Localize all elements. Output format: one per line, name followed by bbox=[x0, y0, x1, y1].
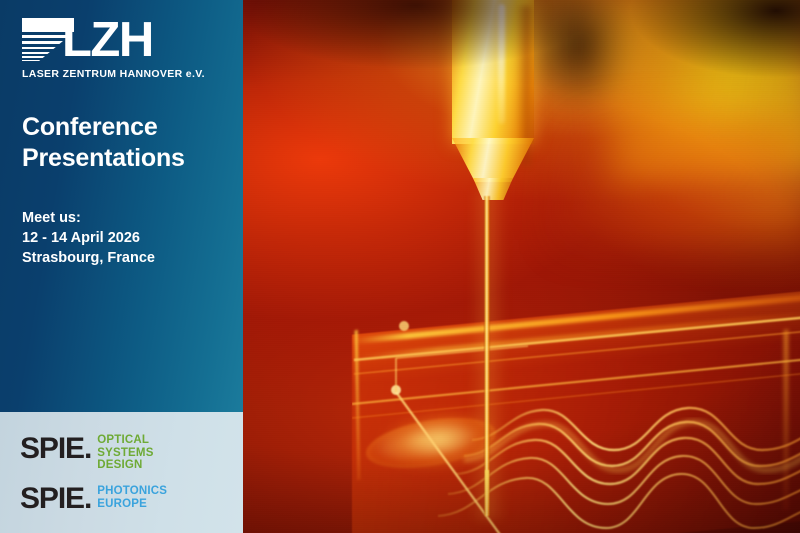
spie-tagline: OPTICAL SYSTEMS DESIGN bbox=[97, 434, 153, 472]
spie-tagline-line-1: OPTICAL bbox=[97, 434, 153, 447]
spie-tagline-line-2: SYSTEMS bbox=[97, 447, 153, 460]
spie-tagline-line-2: EUROPE bbox=[97, 498, 167, 511]
info-panel: LZH LASER ZENTRUM HANNOVER e.V. Conferen… bbox=[0, 0, 243, 412]
meet-us-dates: 12 - 14 April 2026 bbox=[22, 228, 155, 248]
spie-wordmark: SPIE. bbox=[20, 434, 91, 464]
promo-banner: LZH LASER ZENTRUM HANNOVER e.V. Conferen… bbox=[0, 0, 800, 533]
spie-tagline-line-1: PHOTONICS bbox=[97, 485, 167, 498]
headline-line-2: Presentations bbox=[22, 143, 185, 174]
lzh-logo-subtitle: LASER ZENTRUM HANNOVER e.V. bbox=[22, 68, 187, 80]
spie-optical-systems-design-logo: SPIE. OPTICAL SYSTEMS DESIGN bbox=[20, 434, 154, 472]
spie-tagline-line-3: DESIGN bbox=[97, 459, 153, 472]
meet-us-label: Meet us: bbox=[22, 208, 155, 228]
meet-us-location: Strasbourg, France bbox=[22, 248, 155, 268]
spie-tagline: PHOTONICS EUROPE bbox=[97, 485, 167, 510]
meet-us-block: Meet us: 12 - 14 April 2026 Strasbourg, … bbox=[22, 208, 155, 268]
partner-logo-band: SPIE. OPTICAL SYSTEMS DESIGN SPIE. PHOTO… bbox=[0, 412, 243, 533]
lzh-logo-text: LZH bbox=[62, 15, 153, 65]
headline-line-1: Conference bbox=[22, 112, 185, 143]
lzh-logo: LZH LASER ZENTRUM HANNOVER e.V. bbox=[22, 16, 187, 80]
lzh-logo-mark: LZH bbox=[22, 16, 187, 66]
spie-photonics-europe-logo: SPIE. PHOTONICS EUROPE bbox=[20, 484, 167, 514]
spie-wordmark: SPIE. bbox=[20, 484, 91, 514]
page-title: Conference Presentations bbox=[22, 112, 185, 174]
